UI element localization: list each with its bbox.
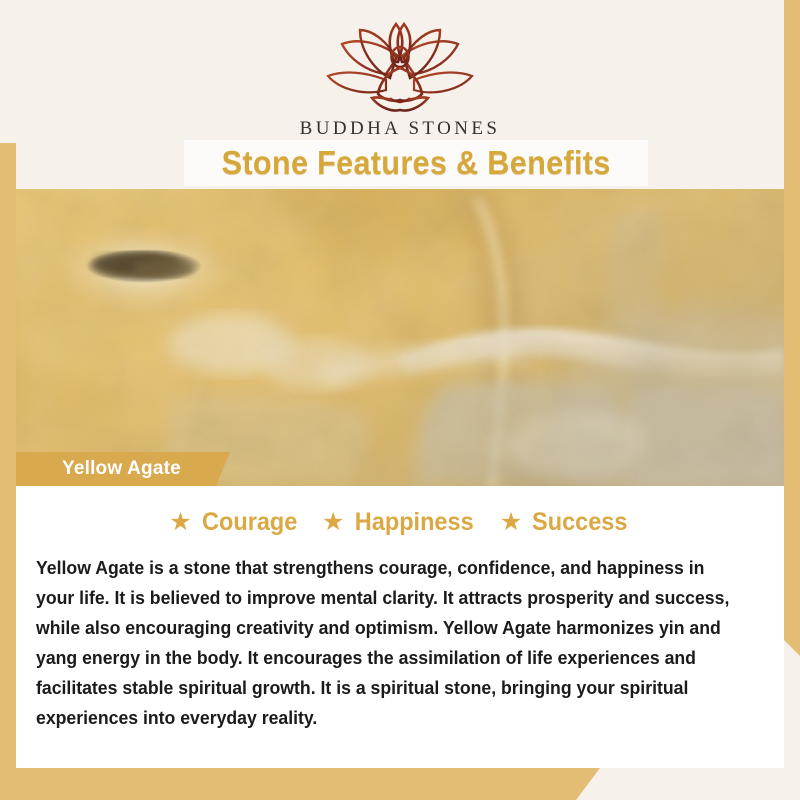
infographic-page: BUDDHA STONES Stone Features & Benefits (0, 0, 800, 800)
keyword-row: ★ Courage ★ Happiness ★ Success (16, 486, 784, 537)
star-icon: ★ (500, 510, 522, 535)
stone-description: Yellow Agate is a stone that strengthens… (36, 553, 733, 733)
agate-texture-image (16, 189, 784, 486)
brand-logo-block: BUDDHA STONES (16, 22, 784, 140)
keyword-happiness: ★ Happiness (322, 508, 478, 537)
page-title: Stone Features & Benefits (221, 144, 610, 182)
stone-name-label: Yellow Agate (62, 458, 181, 480)
gold-band-left (0, 143, 16, 768)
content-panel: ★ Courage ★ Happiness ★ Success Yellow A… (16, 486, 784, 768)
keyword-label: Courage (202, 508, 297, 537)
star-icon: ★ (169, 510, 191, 535)
brand-wordmark: BUDDHA STONES (300, 118, 501, 140)
stone-name-tag: Yellow Agate (16, 452, 230, 486)
keyword-label: Success (532, 508, 627, 537)
gold-band-bottom (0, 768, 600, 800)
header: BUDDHA STONES Stone Features & Benefits (16, 0, 784, 190)
keyword-label: Happiness (355, 508, 474, 537)
lotus-meditation-icon (310, 22, 490, 114)
star-icon: ★ (322, 510, 344, 535)
title-banner: Stone Features & Benefits (184, 140, 648, 186)
keyword-courage: ★ Courage (169, 508, 300, 537)
gold-band-right (784, 32, 800, 656)
stone-photo (16, 189, 784, 486)
keyword-success: ★ Success (500, 508, 631, 537)
